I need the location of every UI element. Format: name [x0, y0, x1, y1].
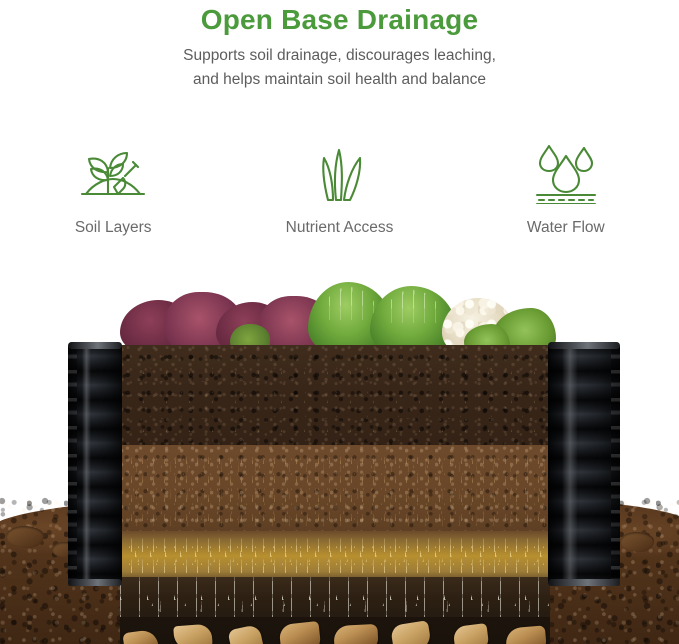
raised-bed-cross-section-photo	[0, 280, 679, 644]
wood-chunk	[505, 625, 547, 644]
post-bottom-rim	[548, 579, 620, 586]
post-top-rim	[548, 342, 620, 349]
wood-chunk	[122, 629, 159, 644]
wood-chunk	[453, 623, 490, 644]
metal-highlight	[562, 342, 578, 586]
wood-chunk	[227, 624, 264, 644]
post-top-rim	[68, 342, 122, 349]
page-title: Open Base Drainage	[0, 2, 679, 38]
bed-post-right	[548, 342, 620, 586]
bed-post-left	[68, 342, 122, 586]
soil-clump	[620, 532, 654, 552]
product-feature-image: Open Base Drainage Supports soil drainag…	[0, 0, 679, 644]
feature-label-water-flow: Water Flow	[501, 216, 631, 240]
corrugated-panel	[548, 342, 620, 586]
layer-topsoil	[120, 345, 550, 445]
soil-clump	[6, 526, 44, 548]
metal-highlight	[82, 342, 91, 586]
feature-nutrient-access: Nutrient Access	[226, 136, 452, 240]
subtitle-line-1: Supports soil drainage, discourages leac…	[183, 47, 496, 64]
feature-label-soil-layers: Soil Layers	[48, 216, 178, 240]
grass-blades-icon	[306, 136, 372, 204]
wood-chunk	[173, 624, 213, 644]
sprout-shovel-icon	[74, 136, 152, 204]
feature-soil-layers: Soil Layers	[0, 136, 226, 240]
water-drops-icon	[529, 136, 603, 204]
feature-row: Soil Layers Nutrient Access	[0, 136, 679, 240]
layer-wood-logs	[120, 617, 550, 644]
corrugation-ridge	[611, 342, 620, 586]
wood-chunk	[279, 621, 322, 644]
post-bottom-rim	[68, 579, 122, 586]
layer-compost-mulch	[120, 445, 550, 537]
wood-chunk	[390, 620, 432, 644]
feature-label-nutrient-access: Nutrient Access	[274, 216, 404, 240]
feature-water-flow: Water Flow	[453, 136, 679, 240]
corrugation-ridge	[68, 342, 77, 586]
header: Open Base Drainage Supports soil drainag…	[0, 0, 679, 92]
page-subtitle: Supports soil drainage, discourages leac…	[80, 44, 600, 92]
bed-fill-cross-section	[120, 345, 550, 644]
wood-chunk	[333, 624, 378, 644]
subtitle-line-2: and helps maintain soil health and balan…	[193, 71, 486, 88]
layer-straw	[120, 531, 550, 583]
